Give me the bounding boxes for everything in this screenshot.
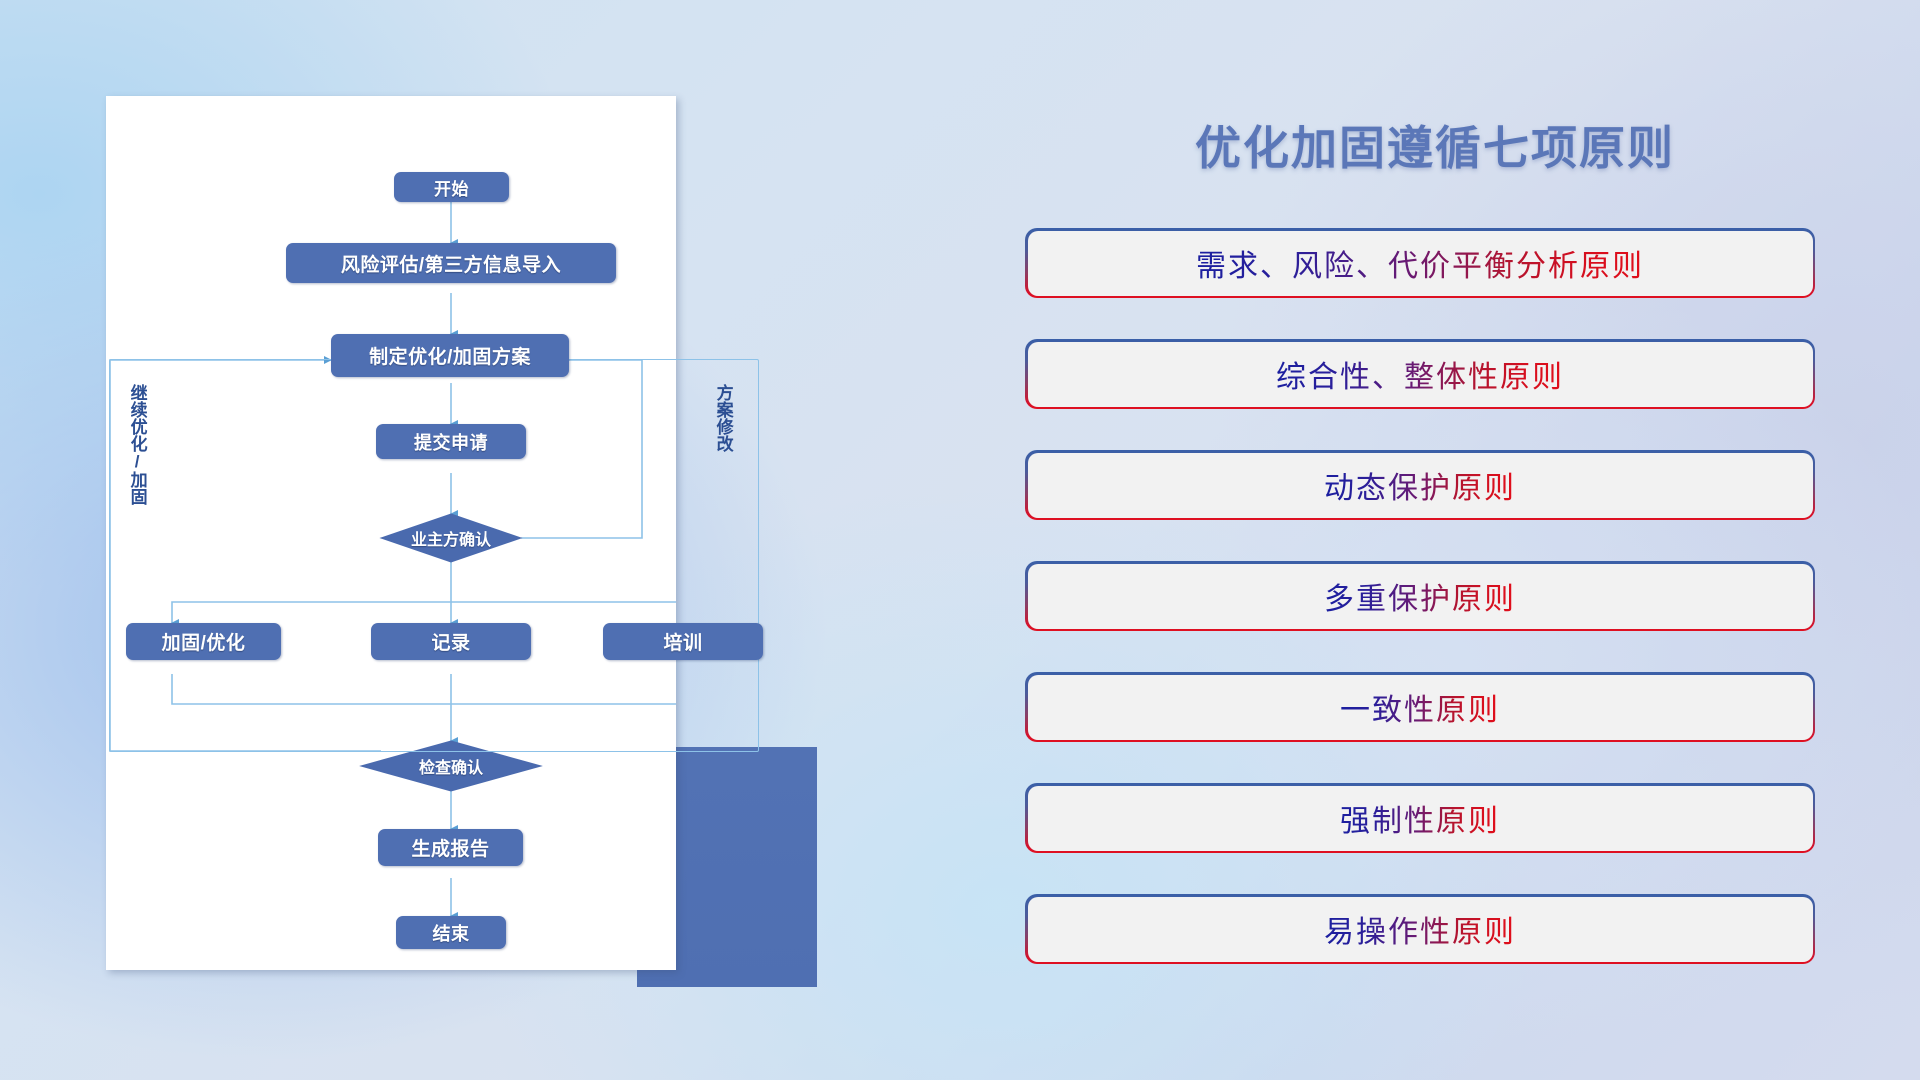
- node-training[interactable]: 培训: [603, 623, 763, 660]
- node-record[interactable]: 记录: [371, 623, 531, 660]
- principle-item-inner: 动态保护原则: [1028, 453, 1813, 518]
- principle-label: 强制性原则: [1340, 796, 1500, 840]
- slide-canvas: 开始 风险评估/第三方信息导入 制定优化/加固方案 提交申请 业主方确认 加固/…: [0, 0, 1920, 1080]
- principle-item-inner: 多重保护原则: [1028, 564, 1813, 629]
- principle-item[interactable]: 易操作性原则: [1025, 894, 1815, 964]
- principle-item-inner: 一致性原则: [1028, 675, 1813, 740]
- principle-item-inner: 需求、风险、代价平衡分析原则: [1028, 231, 1813, 296]
- node-start-label: 开始: [434, 175, 469, 200]
- principle-item[interactable]: 需求、风险、代价平衡分析原则: [1025, 228, 1815, 298]
- node-start[interactable]: 开始: [394, 172, 509, 202]
- node-submit-application-label: 提交申请: [414, 429, 488, 455]
- principle-label: 一致性原则: [1340, 685, 1500, 729]
- principle-item[interactable]: 多重保护原则: [1025, 561, 1815, 631]
- node-generate-report[interactable]: 生成报告: [378, 829, 523, 866]
- node-risk-assessment[interactable]: 风险评估/第三方信息导入: [286, 243, 616, 283]
- panel-title: 优化加固遵循七项原则: [1020, 112, 1850, 178]
- node-reinforce-optimize-label: 加固/优化: [162, 628, 246, 655]
- node-record-label: 记录: [431, 628, 470, 655]
- principle-item-inner: 强制性原则: [1028, 786, 1813, 851]
- diamond-owner-confirm: [381, 514, 521, 562]
- principle-label: 动态保护原则: [1324, 463, 1516, 507]
- node-make-plan[interactable]: 制定优化/加固方案: [331, 334, 569, 377]
- principle-item[interactable]: 综合性、整体性原则: [1025, 339, 1815, 409]
- edge-label-continue-optimize: 继续优化/加固: [128, 384, 146, 505]
- diamond-inspection-confirm: [361, 741, 541, 791]
- node-make-plan-label: 制定优化/加固方案: [369, 342, 531, 369]
- node-reinforce-optimize[interactable]: 加固/优化: [126, 623, 281, 660]
- principle-label: 综合性、整体性原则: [1276, 352, 1564, 396]
- principle-label: 易操作性原则: [1324, 907, 1516, 951]
- principle-item[interactable]: 一致性原则: [1025, 672, 1815, 742]
- node-submit-application[interactable]: 提交申请: [376, 424, 526, 459]
- principle-item[interactable]: 强制性原则: [1025, 783, 1815, 853]
- node-training-label: 培训: [663, 628, 702, 655]
- principle-item-inner: 综合性、整体性原则: [1028, 342, 1813, 407]
- edge-label-revise-plan: 方案修改: [714, 384, 732, 452]
- node-end-label: 结束: [433, 920, 470, 946]
- principles-list: 需求、风险、代价平衡分析原则 综合性、整体性原则 动态保护原则 多重保护原则: [1025, 228, 1815, 1005]
- principles-panel: 优化加固遵循七项原则 需求、风险、代价平衡分析原则 综合性、整体性原则 动态保护…: [1020, 96, 1850, 996]
- node-generate-report-label: 生成报告: [411, 834, 489, 861]
- flowchart-card: 开始 风险评估/第三方信息导入 制定优化/加固方案 提交申请 业主方确认 加固/…: [106, 96, 676, 970]
- principle-label: 多重保护原则: [1324, 574, 1516, 618]
- node-risk-assessment-label: 风险评估/第三方信息导入: [341, 250, 561, 277]
- principle-item[interactable]: 动态保护原则: [1025, 450, 1815, 520]
- node-end[interactable]: 结束: [396, 916, 506, 949]
- principle-item-inner: 易操作性原则: [1028, 897, 1813, 962]
- principle-label: 需求、风险、代价平衡分析原则: [1196, 241, 1644, 285]
